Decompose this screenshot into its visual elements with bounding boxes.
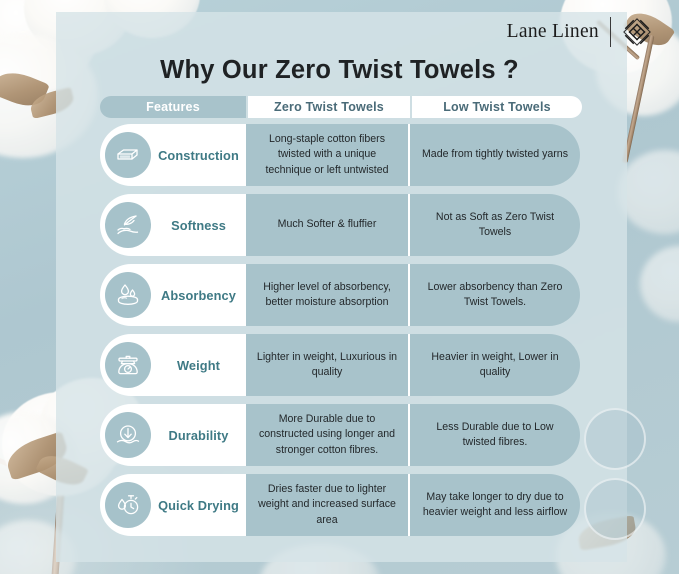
- zero-twist-cell: Long-staple cotton fibers twisted with a…: [246, 124, 408, 186]
- column-header-features: Features: [100, 96, 246, 118]
- low-twist-cell: Less Durable due to Low twisted fibres.: [410, 404, 580, 466]
- feature-label: Durability: [151, 428, 246, 443]
- zero-twist-cell: Dries faster due to lighter weight and i…: [246, 474, 408, 536]
- droplet-stopwatch-icon: [105, 482, 151, 528]
- zero-twist-cell: Much Softer & fluffier: [246, 194, 408, 256]
- hand-with-feather-icon: [105, 202, 151, 248]
- water-droplets-absorb-icon: [105, 272, 151, 318]
- folded-towel-icon: [105, 132, 151, 178]
- column-header-low-twist: Low Twist Towels: [412, 96, 582, 118]
- table-row: Quick Drying Dries faster due to lighter…: [100, 474, 582, 536]
- decorative-circle: [584, 408, 646, 470]
- feature-cell: Weight: [100, 334, 246, 396]
- brand-name: Lane Linen: [507, 21, 599, 43]
- feature-cell: Durability: [100, 404, 246, 466]
- table-row: Weight Lighter in weight, Luxurious in q…: [100, 334, 582, 396]
- comparison-table: Features Zero Twist Towels Low Twist Tow…: [100, 96, 582, 544]
- brand-lockup: Lane Linen: [507, 17, 652, 47]
- low-twist-cell: Lower absorbency than Zero Twist Towels.: [410, 264, 580, 326]
- feature-label: Softness: [151, 218, 246, 233]
- low-twist-cell: May take longer to dry due to heavier we…: [410, 474, 580, 536]
- table-row: Construction Long-staple cotton fibers t…: [100, 124, 582, 186]
- page-title: Why Our Zero Twist Towels ?: [0, 56, 679, 85]
- brand-divider: [610, 17, 611, 47]
- woven-lattice-logo-icon: [622, 17, 652, 47]
- table-row: Absorbency Higher level of absorbency, b…: [100, 264, 582, 326]
- feature-cell: Quick Drying: [100, 474, 246, 536]
- zero-twist-cell: Higher level of absorbency, better moist…: [246, 264, 408, 326]
- zero-twist-cell: Lighter in weight, Luxurious in quality: [246, 334, 408, 396]
- feature-label: Construction: [151, 148, 246, 163]
- feature-label: Quick Drying: [151, 498, 246, 513]
- table-row: Durability More Durable due to construct…: [100, 404, 582, 466]
- table-header-row: Features Zero Twist Towels Low Twist Tow…: [100, 96, 582, 118]
- column-header-zero-twist: Zero Twist Towels: [248, 96, 410, 118]
- table-row: Softness Much Softer & fluffier Not as S…: [100, 194, 582, 256]
- down-arrow-circle-durability-icon: [105, 412, 151, 458]
- feature-cell: Construction: [100, 124, 246, 186]
- feature-label: Absorbency: [151, 288, 246, 303]
- weighing-scale-icon: [105, 342, 151, 388]
- low-twist-cell: Heavier in weight, Lower in quality: [410, 334, 580, 396]
- feature-label: Weight: [151, 358, 246, 373]
- low-twist-cell: Not as Soft as Zero Twist Towels: [410, 194, 580, 256]
- infographic-canvas: Lane Linen Why Our Zero Twist Towels ? F…: [0, 0, 679, 574]
- low-twist-cell: Made from tightly twisted yarns: [410, 124, 580, 186]
- decorative-circle: [584, 478, 646, 540]
- zero-twist-cell: More Durable due to constructed using lo…: [246, 404, 408, 466]
- feature-cell: Absorbency: [100, 264, 246, 326]
- feature-cell: Softness: [100, 194, 246, 256]
